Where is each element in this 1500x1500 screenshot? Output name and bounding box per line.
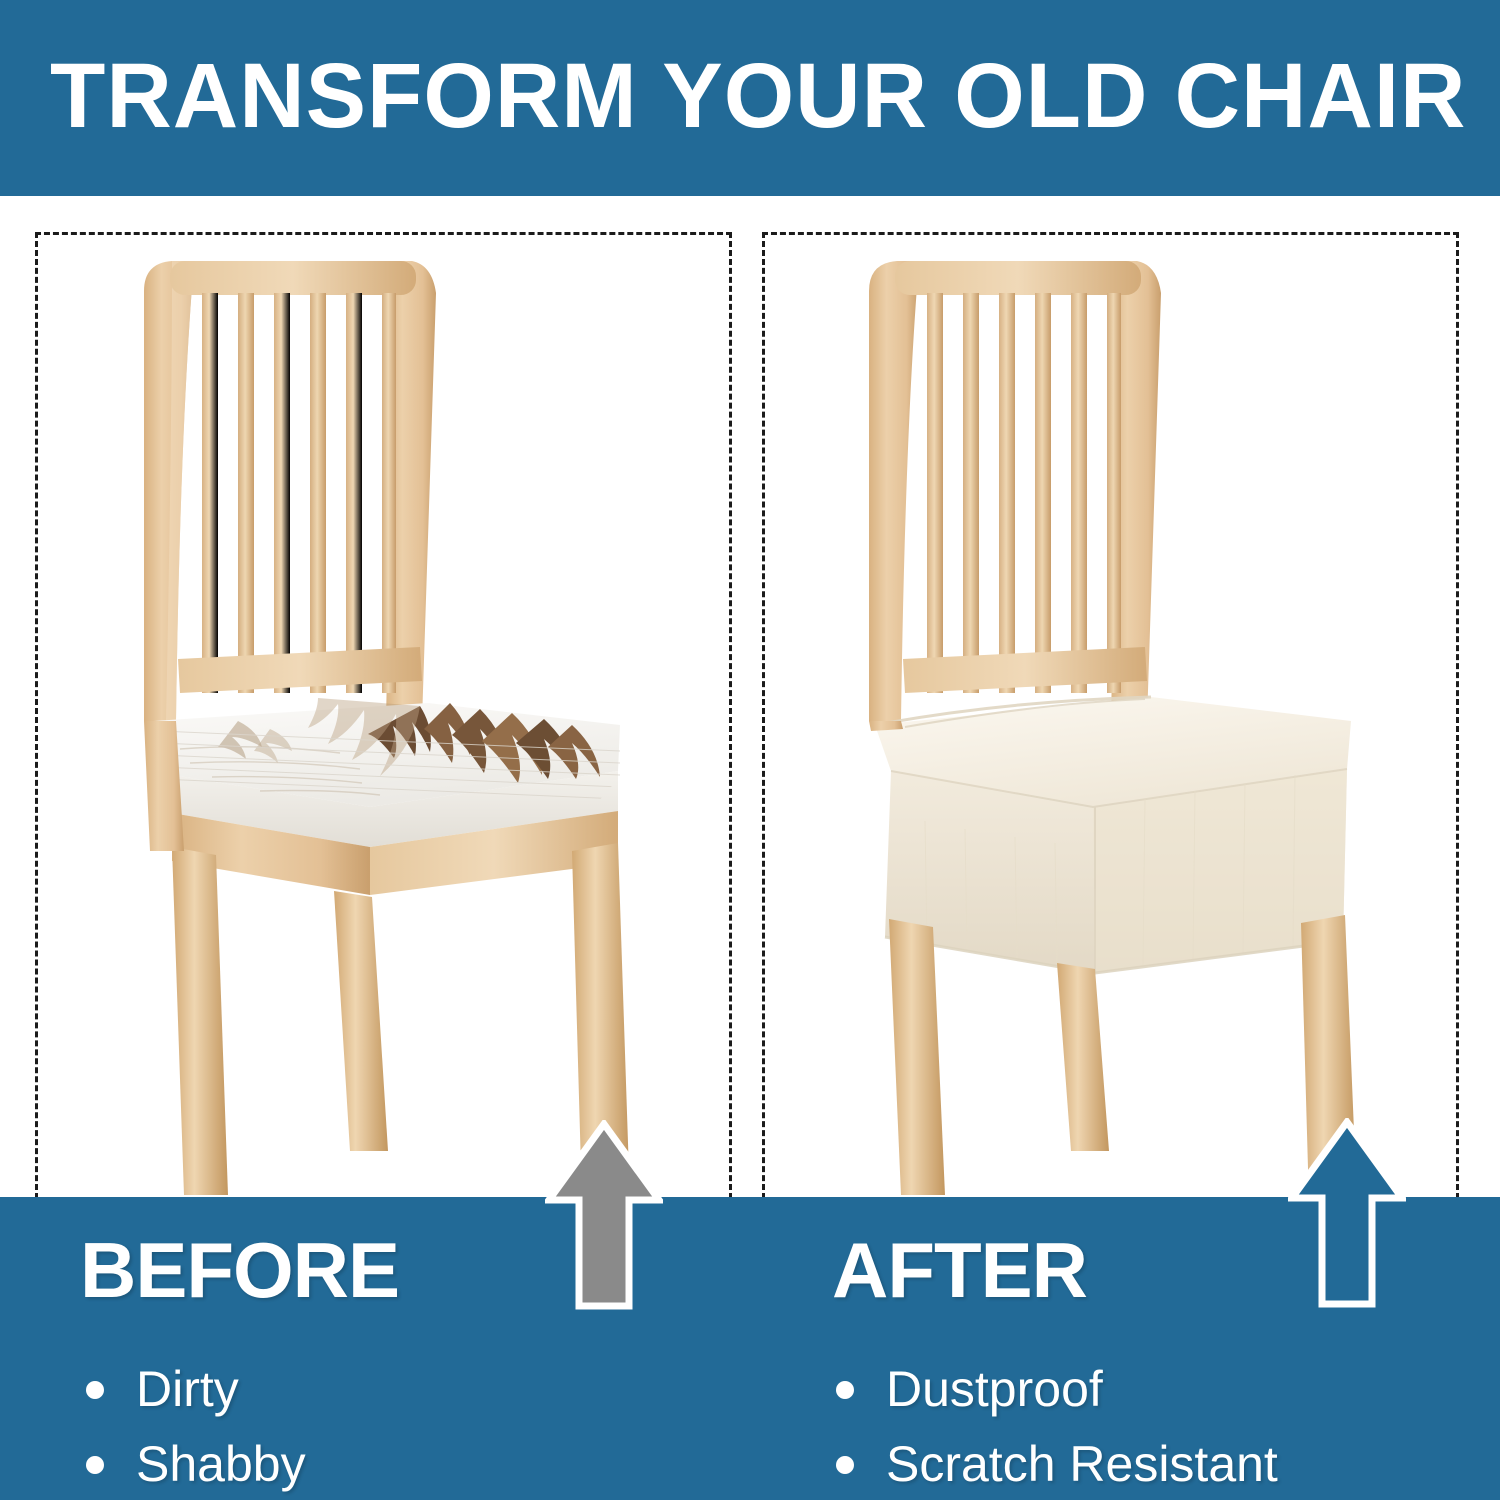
header-banner: TRANSFORM YOUR OLD CHAIR — [0, 0, 1500, 196]
before-up-arrow — [545, 1120, 663, 1310]
bullet-dot-icon — [836, 1456, 854, 1474]
after-heading: AFTER — [832, 1231, 1087, 1309]
list-item: Scratch Resistant — [828, 1427, 1278, 1500]
list-item-label: Dustproof — [886, 1361, 1103, 1417]
list-item-label: Scratch Resistant — [886, 1436, 1278, 1492]
comparison-labels-banner: BEFORE Dirty Shabby AFTER Dustproof — [0, 1197, 1500, 1500]
bullet-dot-icon — [86, 1381, 104, 1399]
comparison-stage — [0, 196, 1500, 1197]
list-item: Shabby — [78, 1427, 306, 1500]
before-heading: BEFORE — [80, 1231, 399, 1309]
after-up-arrow — [1288, 1118, 1406, 1308]
before-chair-image — [120, 251, 660, 1206]
list-item: Dirty — [78, 1352, 306, 1427]
bullet-dot-icon — [836, 1381, 854, 1399]
up-arrow-icon — [1292, 1122, 1402, 1304]
bullet-dot-icon — [86, 1456, 104, 1474]
list-item: Dustproof — [828, 1352, 1278, 1427]
list-item-label: Shabby — [136, 1436, 306, 1492]
list-item-label: Dirty — [136, 1361, 239, 1417]
before-feature-list: Dirty Shabby — [78, 1352, 306, 1500]
after-chair-image — [845, 251, 1385, 1206]
up-arrow-icon — [549, 1124, 659, 1306]
after-feature-list: Dustproof Scratch Resistant — [828, 1352, 1278, 1500]
page-title: TRANSFORM YOUR OLD CHAIR — [50, 46, 1429, 146]
infographic-page: TRANSFORM YOUR OLD CHAIR — [0, 0, 1500, 1500]
